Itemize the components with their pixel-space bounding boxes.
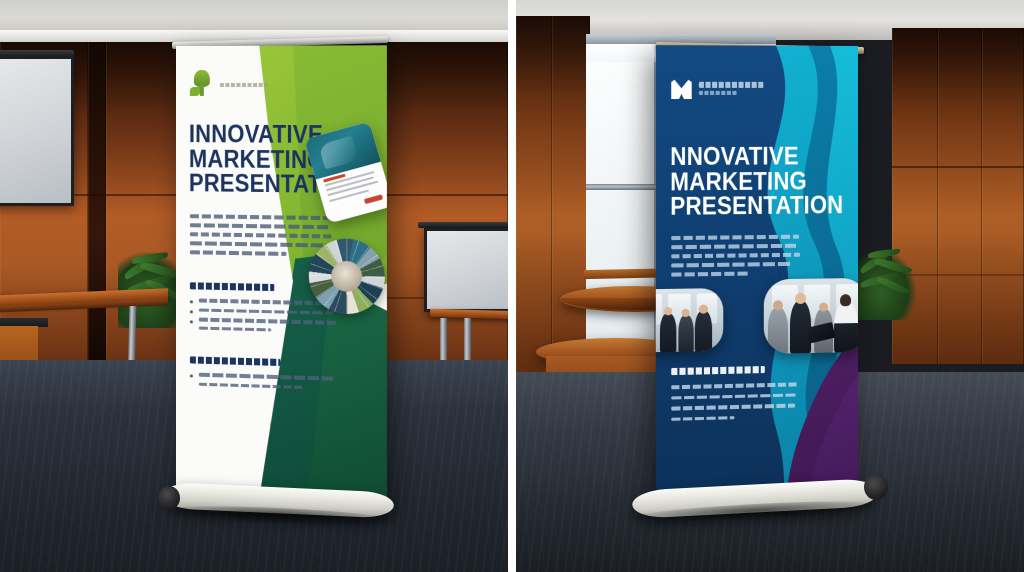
projector-screen-2 [424,228,508,312]
business-photo-1 [656,288,723,353]
circular-photo-collage [309,238,385,315]
banner-left-logo [189,70,215,98]
banner-left-graphic[interactable]: INNOVATIVE MARKETING PRESENTATION [176,45,387,503]
banner-right-base-cap [864,474,888,500]
section-1-bullets-right [671,382,813,421]
banner-right-logo-text [699,82,780,95]
banner-right-body [671,235,801,277]
headline-line-3-right: PRESENTATION [670,193,843,219]
business-photo-2 [764,278,858,354]
banner-right-section-1 [671,365,813,421]
banner-left-logo-text [220,74,301,87]
projector-screen [0,56,74,206]
company-tagline [220,83,268,87]
company-name-right [699,82,764,88]
checkmark-logo-icon [671,80,691,99]
screenshot-stage: INNOVATIVE MARKETING PRESENTATION [0,0,1024,572]
company-tagline-right [699,91,738,95]
potted-plant-right [856,250,916,320]
panel-divider [508,0,516,572]
company-name [220,74,293,80]
banner-right-logo [671,80,694,100]
banner-left-section-2 [190,356,342,390]
headline-line-1-right: NNOVATIVE [670,144,843,170]
section-1-heading [190,282,274,291]
left-mockup-panel: INNOVATIVE MARKETING PRESENTATION [0,0,508,572]
banner-right-graphic[interactable]: NNOVATIVE MARKETING PRESENTATION [656,45,858,502]
section-1-heading-right [671,366,765,375]
section-2-heading [190,356,280,366]
banner-left-body [190,214,333,257]
wood-wall-right-left [516,16,590,376]
banner-right-headline: NNOVATIVE MARKETING PRESENTATION [670,144,843,219]
section-1-bullets [190,298,342,333]
right-mockup-panel: NNOVATIVE MARKETING PRESENTATION [516,0,1024,572]
